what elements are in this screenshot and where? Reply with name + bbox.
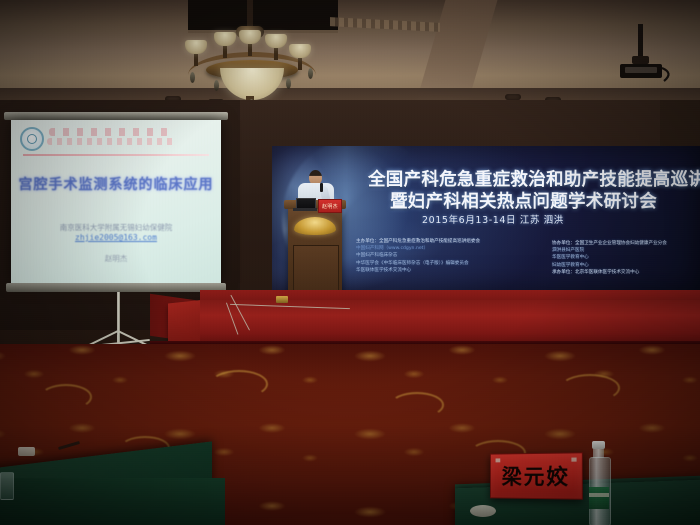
slide-affiliation: 南京医科大学附属无锡妇幼保健院 [11,222,221,233]
carpet-motif [210,370,268,398]
name-placard: 梁元姣 [490,452,583,499]
water-bottle [588,441,610,525]
slide-header-decoration [49,128,169,136]
organizer-line: 中国妇产科网（www.cdgyn.net） [356,245,551,252]
organizer-line: 华医医学教育中心 [552,254,700,261]
banner-organizers-right: 协办单位：全国卫生产业企业管理协会妇幼健康产业分会 泗洪县妇产医院 华医医学教育… [552,240,700,276]
organizer-line: 中国妇产科临床杂志 [356,252,551,259]
podium-name-card: 赵明杰 [318,199,342,213]
bottle-cap [592,441,605,449]
screen-canvas: 宫腔手术监测系统的临床应用 南京医科大学附属无锡妇幼保健院 zhjie2005@… [11,120,221,283]
chandelier-crystal [286,78,291,89]
chandelier-lamp-cup [239,30,261,44]
slide-email: zhjie2005@163.com [11,233,221,242]
slide-header-decoration [47,138,175,145]
name-placard-text: 梁元姣 [502,461,570,492]
organizer-line: 妇幼医学教育中心 [552,262,700,269]
chandelier-stem [248,42,252,56]
paper-cup [18,447,35,456]
podium-emblem [294,217,336,235]
bottle-label [589,487,609,509]
chandelier [178,0,326,104]
saucer [470,505,496,517]
organizer-line: 承办单位：北京华医联体医学技术交流中心 [552,269,700,276]
chandelier-lamp-cup [289,44,311,58]
floor-socket-box [276,296,288,303]
placard-corner-clip [571,458,576,462]
chandelier-crystal [190,72,195,83]
screen-top-bar [4,112,228,120]
microphone-icon [320,183,323,192]
organizer-line: 泗洪县妇产医院 [552,247,700,254]
banner-title-line2: 暨妇产科相关热点问题学术研讨会 [390,188,700,213]
banner-date: 2015年6月13-14日 江苏 泗洪 [422,212,682,226]
chandelier-lamp-cup [185,40,207,54]
slide-author: 赵明杰 [11,253,221,264]
chandelier-crystal [214,80,219,91]
carpet-motif [390,392,444,418]
slide-title: 宫腔手术监测系统的临床应用 [11,174,221,194]
chandelier-stem [223,44,227,58]
placard-corner-clip [496,458,501,462]
chandelier-stem [194,52,198,66]
chandelier-stem [298,56,302,70]
banner-organizers-left: 主办单位：全国产科危急重症救治和助产技能提高巡讲组委会 中国妇产科网（www.c… [356,238,551,274]
stage-front-face [200,300,700,344]
ceiling [0,0,700,108]
bottle-label-stripe [589,493,609,497]
foreground-table-left-skirt [0,478,225,525]
water-glass [0,472,14,500]
organizer-line: 中华医学会《中华临床医师杂志（电子版）》编辑委员会 [356,260,551,267]
chandelier-lamp-cup [214,32,236,46]
projection-screen: 宫腔手术监测系统的临床应用 南京医科大学附属无锡妇幼保健院 zhjie2005@… [4,112,228,294]
organizer-line: 协办单位：全国卫生产业企业管理协会妇幼健康产业分会 [552,240,700,247]
chandelier-stem [274,46,278,60]
ceiling-projector [612,24,672,86]
screen-bottom-bar [6,283,226,292]
laptop-base [293,208,317,211]
slide-divider [23,154,209,156]
carpet-motif [40,384,92,410]
organizer-line: 华医联体医学技术交流中心 [356,267,551,274]
hospital-logo-icon [20,127,44,151]
conference-hall-photo: 宫腔手术监测系统的临床应用 南京医科大学附属无锡妇幼保健院 zhjie2005@… [0,0,700,525]
organizer-line: 主办单位：全国产科危急重症救治和助产技能提高巡讲组委会 [356,238,551,245]
carpet-motif [560,374,620,402]
ceiling-molding [330,17,440,32]
chandelier-crystal [308,68,313,79]
chandelier-lamp-cup [265,34,287,48]
